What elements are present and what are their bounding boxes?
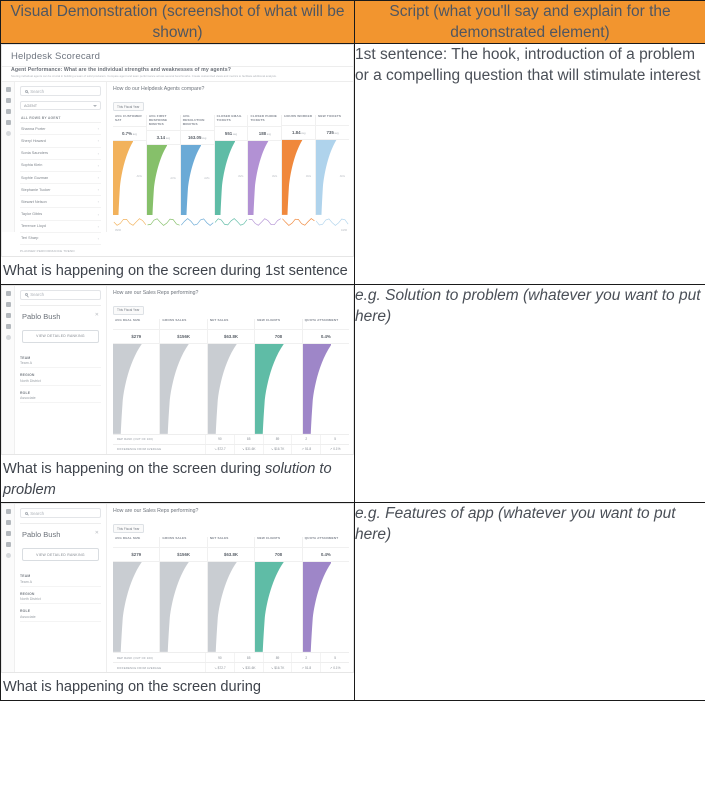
table-icon[interactable]	[6, 324, 11, 329]
metric-value: 0.4%	[303, 548, 349, 562]
icon-rail	[2, 82, 15, 232]
chart-panel: How are our Sales Reps performing? This …	[107, 504, 353, 672]
metric-column: AVG RESOLUTION MINUTES163.05 avgAVG	[180, 115, 214, 215]
metric-column: HOURS WORKED1.84 avgAVG	[281, 115, 315, 215]
metric-label: NEW CLIENTS	[255, 319, 301, 330]
metric-label: AVG RESOLUTION MINUTES	[181, 115, 214, 131]
filter-panel: Search AGENT ALL ROWS BY AGENT Shanna Po…	[15, 82, 107, 232]
metric-value: 708	[255, 330, 301, 344]
metric-label: AVG DEAL SIZE	[113, 537, 159, 548]
chevron-down-icon	[93, 105, 97, 107]
icon-rail	[2, 504, 15, 672]
trend-label: PLANNER PERFORMANCE TREND	[20, 245, 101, 253]
agent-name: Stephanie Tucker	[21, 188, 51, 192]
metric-label: CLOSED PHONE TICKETS	[248, 115, 281, 127]
metric-funnel: AVG	[316, 140, 349, 215]
screenshot-sales-reps-1: Search ✕ Pablo Bush VIEW DETAILED RANKIN…	[1, 285, 354, 455]
person-panel: Search ✕ Pablo Bush VIEW DETAILED RANKIN…	[15, 286, 107, 454]
home-icon[interactable]	[6, 291, 11, 296]
footer-value: 85	[234, 435, 263, 444]
agent-list: Shanna Porter› Sheryl Howard› Sonia Saun…	[20, 123, 101, 245]
list-item[interactable]: Sophia Klein›	[20, 160, 101, 172]
header-script: Script (what you'll say and explain for …	[355, 1, 705, 44]
metric-column: GROSS SALES$156K	[159, 319, 206, 434]
metric-label: CLOSED EMAIL TICKETS	[215, 115, 248, 127]
metric-value: 188 avg	[248, 127, 281, 141]
metric-funnel	[255, 344, 301, 434]
chevron-right-icon: ›	[98, 236, 99, 241]
metric-value: 0.4%	[303, 330, 349, 344]
agent-name: Stewart Nelson	[21, 200, 47, 204]
metric-column: NET SALES$63.8K	[207, 319, 254, 434]
person-label: Pablo Bush	[22, 530, 60, 539]
meta-key: TEAM	[20, 351, 101, 360]
metric-grid: AVG DEAL SIZE$279GROSS SALES$156KNET SAL…	[113, 537, 349, 652]
metric-funnel	[160, 344, 206, 434]
footer-value: ↘ $72.7	[205, 663, 234, 672]
table-icon[interactable]	[6, 542, 11, 547]
list-item[interactable]: Teri Sharp›	[20, 233, 101, 245]
caption-1: What is happening on the screen during 1…	[1, 257, 354, 284]
footer-label: DIFFERENCE FROM AVERAGE	[113, 445, 205, 454]
difference-footer-row: DIFFERENCE FROM AVERAGE↘ $72.7↘ $31.6K↘ …	[113, 662, 349, 672]
metric-funnel	[208, 562, 254, 652]
metric-funnel	[208, 344, 254, 434]
footer-value: 89	[263, 435, 292, 444]
funnel-tag: AVG	[238, 175, 243, 178]
chevron-right-icon: ›	[98, 212, 99, 217]
footer-label: REP RANK (OUT OF 100)	[113, 653, 205, 662]
metric-unit: avg	[266, 133, 271, 136]
shot-body: Search ✕ Pablo Bush VIEW DETAILED RANKIN…	[2, 286, 353, 454]
agent-name: Sheryl Howard	[21, 139, 46, 143]
metric-value: $156K	[160, 548, 206, 562]
metric-funnel: AVG	[147, 145, 180, 215]
chart-question: How do our Helpdesk Agents compare?	[113, 86, 349, 95]
metric-label: QUOTA ATTAINMENT	[303, 537, 349, 548]
metric-unit: avg	[232, 133, 237, 136]
help-icon[interactable]	[6, 131, 11, 136]
rank-footer-row: REP RANK (OUT OF 100)90858925	[113, 652, 349, 662]
shot-title: Helpdesk Scorecard	[2, 45, 353, 66]
axis-labels: 05/06 10/06	[113, 229, 349, 232]
agent-filter-select[interactable]: AGENT	[20, 101, 101, 110]
metric-unit: avg	[165, 137, 170, 140]
metric-funnel	[255, 562, 301, 652]
chart-icon[interactable]	[6, 313, 11, 318]
date-range-pill[interactable]: This Fiscal Year	[113, 102, 144, 111]
grid-icon[interactable]	[6, 520, 11, 525]
metric-label: AVG FIRST RESPONSE MINUTES	[147, 115, 180, 131]
chart-panel: How are our Sales Reps performing? This …	[107, 286, 353, 454]
screenshot-helpdesk-scorecard: Helpdesk Scorecard Agent Performance: Wh…	[1, 44, 354, 257]
metric-funnel: AVG	[113, 141, 146, 215]
list-item[interactable]: Sophie Guzman›	[20, 172, 101, 184]
metric-value: 735 avg	[316, 126, 349, 140]
metric-column: NEW TICKETS735 avgAVG	[315, 115, 349, 215]
chevron-right-icon: ›	[98, 187, 99, 192]
date-range-pill[interactable]: This Fiscal Year	[113, 306, 144, 315]
table-row: Search ✕ Pablo Bush VIEW DETAILED RANKIN…	[1, 503, 705, 701]
footer-value: 89	[263, 653, 292, 662]
footer-value: 90	[205, 435, 234, 444]
footer-label: DIFFERENCE FROM AVERAGE	[113, 663, 205, 672]
meta-key: TEAM	[20, 569, 101, 578]
shot-body: Search ✕ Pablo Bush VIEW DETAILED RANKIN…	[2, 504, 353, 672]
metric-funnel: AVG	[181, 145, 214, 215]
meta-key: ROLE	[20, 604, 101, 613]
metric-label: NEW TICKETS	[316, 115, 349, 126]
list-header: ALL ROWS BY AGENT	[20, 115, 101, 123]
metric-funnel: AVG	[248, 141, 281, 215]
metric-funnel	[160, 562, 206, 652]
agent-name: Terrence Lloyd	[21, 224, 46, 228]
meta-key: REGION	[20, 587, 101, 596]
chevron-right-icon: ›	[98, 175, 99, 180]
search-placeholder: Search	[30, 511, 44, 516]
chart-panel: How do our Helpdesk Agents compare? This…	[107, 82, 353, 232]
metric-column: GROSS SALES$156K	[159, 537, 206, 652]
list-item[interactable]: Sheryl Howard›	[20, 135, 101, 147]
metric-value: 0.7% avg	[113, 127, 146, 141]
search-placeholder: Search	[30, 292, 44, 297]
demo-script-table: Visual Demonstration (screenshot of what…	[0, 0, 705, 701]
metric-column: NEW CLIENTS708	[254, 319, 301, 434]
metric-column: NEW CLIENTS708	[254, 537, 301, 652]
grid-icon[interactable]	[6, 98, 11, 103]
metric-value: $279	[113, 548, 159, 562]
metric-column: AVG DEAL SIZE$279	[113, 319, 159, 434]
list-item[interactable]: Stewart Nelson›	[20, 196, 101, 208]
caption-text: What is happening on the screen during	[3, 679, 261, 695]
meta-value: North District	[20, 596, 101, 605]
chevron-right-icon: ›	[98, 138, 99, 143]
metric-label: NET SALES	[208, 319, 254, 330]
metric-funnel	[113, 562, 159, 652]
footer-label: REP RANK (OUT OF 100)	[113, 435, 205, 444]
metric-label: HOURS WORKED	[282, 115, 315, 126]
footer-value: 90	[205, 653, 234, 662]
metric-grid: AVG CUSTOMER SAT0.7% avgAVGAVG FIRST RES…	[113, 115, 349, 215]
metric-value: $279	[113, 330, 159, 344]
metric-column: AVG CUSTOMER SAT0.7% avgAVG	[113, 115, 146, 215]
metric-value: $63.8K	[208, 330, 254, 344]
chevron-right-icon: ›	[98, 163, 99, 168]
footer-value: ↗ 0.1%	[320, 663, 349, 672]
help-icon[interactable]	[6, 553, 11, 558]
metric-column: QUOTA ATTAINMENT0.4%	[302, 537, 349, 652]
footer-value: ↗ 51.8	[291, 663, 320, 672]
metric-value: $156K	[160, 330, 206, 344]
funnel-tag: AVG	[204, 177, 209, 180]
caption-text: What is happening on the screen during 1…	[3, 263, 348, 279]
funnel-tag: AVG	[272, 175, 277, 178]
metric-value: 3.14 avg	[147, 131, 180, 145]
metric-funnel: AVG	[282, 140, 315, 215]
script-cell-2: e.g. Solution to problem (whatever you w…	[355, 284, 705, 502]
meta-value: Associate	[20, 613, 101, 622]
metric-unit: avg	[334, 132, 339, 135]
funnel-tag: AVG	[137, 175, 142, 178]
metric-label: GROSS SALES	[160, 319, 206, 330]
search-icon	[25, 293, 28, 296]
agent-name: Sophia Klein	[21, 163, 42, 167]
metric-label: QUOTA ATTAINMENT	[303, 319, 349, 330]
list-item[interactable]: Shanna Porter›	[20, 123, 101, 135]
metric-funnel: AVG	[215, 141, 248, 215]
chevron-right-icon: ›	[98, 224, 99, 229]
meta-value: North District	[20, 377, 101, 386]
agent-name: Shanna Porter	[21, 127, 46, 131]
funnel-tag: AVG	[306, 175, 311, 178]
table-row: Search ✕ Pablo Bush VIEW DETAILED RANKIN…	[1, 284, 705, 502]
rank-footer-row: REP RANK (OUT OF 100)90858925	[113, 434, 349, 444]
script-cell-1: 1st sentence: The hook, introduction of …	[355, 44, 705, 285]
metric-funnel	[113, 344, 159, 434]
visual-cell-1: Helpdesk Scorecard Agent Performance: Wh…	[1, 44, 355, 285]
metric-value: 163.05 avg	[181, 131, 214, 145]
meta-value: Associate	[20, 395, 101, 404]
footer-value: ↘ $72.7	[205, 445, 234, 454]
agent-name: Taylor Gibbs	[21, 212, 42, 216]
person-panel: Search ✕ Pablo Bush VIEW DETAILED RANKIN…	[15, 504, 107, 672]
list-item[interactable]: Sonia Saunders›	[20, 148, 101, 160]
search-placeholder: Search	[30, 89, 44, 94]
caption-text: What is happening on the screen during	[3, 461, 265, 477]
person-label: Pablo Bush	[22, 312, 60, 321]
chevron-right-icon: ›	[98, 199, 99, 204]
metric-label: AVG DEAL SIZE	[113, 319, 159, 330]
view-detailed-ranking-button[interactable]: VIEW DETAILED RANKING	[22, 548, 99, 561]
table-icon[interactable]	[6, 120, 11, 125]
meta-list: TEAM Team A REGION North District ROLE A…	[20, 351, 101, 404]
metric-column: AVG FIRST RESPONSE MINUTES3.14 avgAVG	[146, 115, 180, 215]
meta-key: REGION	[20, 368, 101, 377]
meta-list: TEAM Team A REGION North District ROLE A…	[20, 569, 101, 622]
shot-description: Scoring individual agents can be crucial…	[2, 74, 353, 81]
axis-start: 05/06	[115, 229, 121, 232]
metric-column: CLOSED EMAIL TICKETS551 avgAVG	[214, 115, 248, 215]
sparkline-row	[113, 215, 349, 229]
metric-label: NET SALES	[208, 537, 254, 548]
metric-value: 708	[255, 548, 301, 562]
footer-value: ↘ $31.6K	[234, 663, 263, 672]
search-icon	[25, 512, 28, 515]
meta-value: Team A	[20, 578, 101, 587]
person-name: ✕ Pablo Bush	[20, 524, 101, 541]
caption-2: What is happening on the screen during s…	[1, 455, 354, 502]
table-row: Helpdesk Scorecard Agent Performance: Wh…	[1, 44, 705, 285]
search-icon	[25, 90, 28, 93]
date-range-pill[interactable]: This Fiscal Year	[113, 524, 144, 533]
footer-value: 85	[234, 653, 263, 662]
axis-end: 10/06	[341, 229, 347, 232]
metric-funnel	[303, 562, 349, 652]
agent-name: Sonia Saunders	[21, 151, 48, 155]
metric-column: NET SALES$63.8K	[207, 537, 254, 652]
metric-unit: avg	[132, 133, 137, 136]
screenshot-sales-reps-2: Search ✕ Pablo Bush VIEW DETAILED RANKIN…	[1, 503, 354, 673]
search-input[interactable]: Search	[20, 508, 101, 518]
visual-cell-3: Search ✕ Pablo Bush VIEW DETAILED RANKIN…	[1, 503, 355, 701]
list-item[interactable]: Terrence Lloyd›	[20, 221, 101, 233]
metric-value: 551 avg	[215, 127, 248, 141]
visual-cell-2: Search ✕ Pablo Bush VIEW DETAILED RANKIN…	[1, 284, 355, 502]
metric-column: QUOTA ATTAINMENT0.4%	[302, 319, 349, 434]
list-item[interactable]: Stephanie Tucker›	[20, 184, 101, 196]
metric-value: 1.84 avg	[282, 126, 315, 140]
shot-body: Search AGENT ALL ROWS BY AGENT Shanna Po…	[2, 82, 353, 232]
metric-funnel	[303, 344, 349, 434]
footer-value: 2	[291, 653, 320, 662]
chart-question: How are our Sales Reps performing?	[113, 508, 349, 517]
header-visual-demonstration: Visual Demonstration (screenshot of what…	[1, 1, 355, 44]
metric-column: CLOSED PHONE TICKETS188 avgAVG	[247, 115, 281, 215]
help-icon[interactable]	[6, 335, 11, 340]
metric-unit: avg	[301, 132, 306, 135]
icon-rail	[2, 286, 15, 454]
search-input[interactable]: Search	[20, 290, 101, 300]
search-input[interactable]: Search	[20, 86, 101, 96]
chevron-right-icon: ›	[98, 151, 99, 156]
agent-name: Sophie Guzman	[21, 176, 48, 180]
metric-grid: AVG DEAL SIZE$279GROSS SALES$156KNET SAL…	[113, 319, 349, 434]
difference-footer-row: DIFFERENCE FROM AVERAGE↘ $72.7↘ $31.6K↘ …	[113, 444, 349, 454]
footer-value: 5	[320, 435, 349, 444]
footer-value: ↘ $16.7K	[263, 663, 292, 672]
funnel-tag: AVG	[340, 175, 345, 178]
agent-filter-value: AGENT	[24, 104, 37, 108]
close-icon[interactable]: ✕	[95, 530, 99, 536]
shot-subtitle: Agent Performance: What are the individu…	[2, 67, 353, 74]
funnel-tag: AVG	[170, 177, 175, 180]
agent-name: Teri Sharp	[21, 236, 38, 240]
metric-label: NEW CLIENTS	[255, 537, 301, 548]
script-cell-3: e.g. Features of app (whatever you want …	[355, 503, 705, 701]
view-detailed-ranking-button[interactable]: VIEW DETAILED RANKING	[22, 330, 99, 343]
meta-value: Team A	[20, 360, 101, 369]
metric-unit: avg	[201, 137, 206, 140]
footer-value: 5	[320, 653, 349, 662]
metric-label: AVG CUSTOMER SAT	[113, 115, 146, 127]
grid-icon[interactable]	[6, 302, 11, 307]
person-name: ✕ Pablo Bush	[20, 306, 101, 323]
meta-key: ROLE	[20, 386, 101, 395]
home-icon[interactable]	[6, 509, 11, 514]
chart-icon[interactable]	[6, 109, 11, 114]
close-icon[interactable]: ✕	[95, 312, 99, 318]
metric-label: GROSS SALES	[160, 537, 206, 548]
caption-3: What is happening on the screen during	[1, 673, 354, 700]
table-header-row: Visual Demonstration (screenshot of what…	[1, 1, 705, 44]
footer-value: ↘ $31.6K	[234, 445, 263, 454]
chart-icon[interactable]	[6, 531, 11, 536]
metric-column: AVG DEAL SIZE$279	[113, 537, 159, 652]
chart-question: How are our Sales Reps performing?	[113, 290, 349, 299]
footer-value: 2	[291, 435, 320, 444]
footer-value: ↘ $16.7K	[263, 445, 292, 454]
list-item[interactable]: Taylor Gibbs›	[20, 208, 101, 220]
metric-value: $63.8K	[208, 548, 254, 562]
footer-value: ↗ 0.1%	[320, 445, 349, 454]
home-icon[interactable]	[6, 87, 11, 92]
chevron-right-icon: ›	[98, 126, 99, 131]
footer-value: ↗ 51.8	[291, 445, 320, 454]
